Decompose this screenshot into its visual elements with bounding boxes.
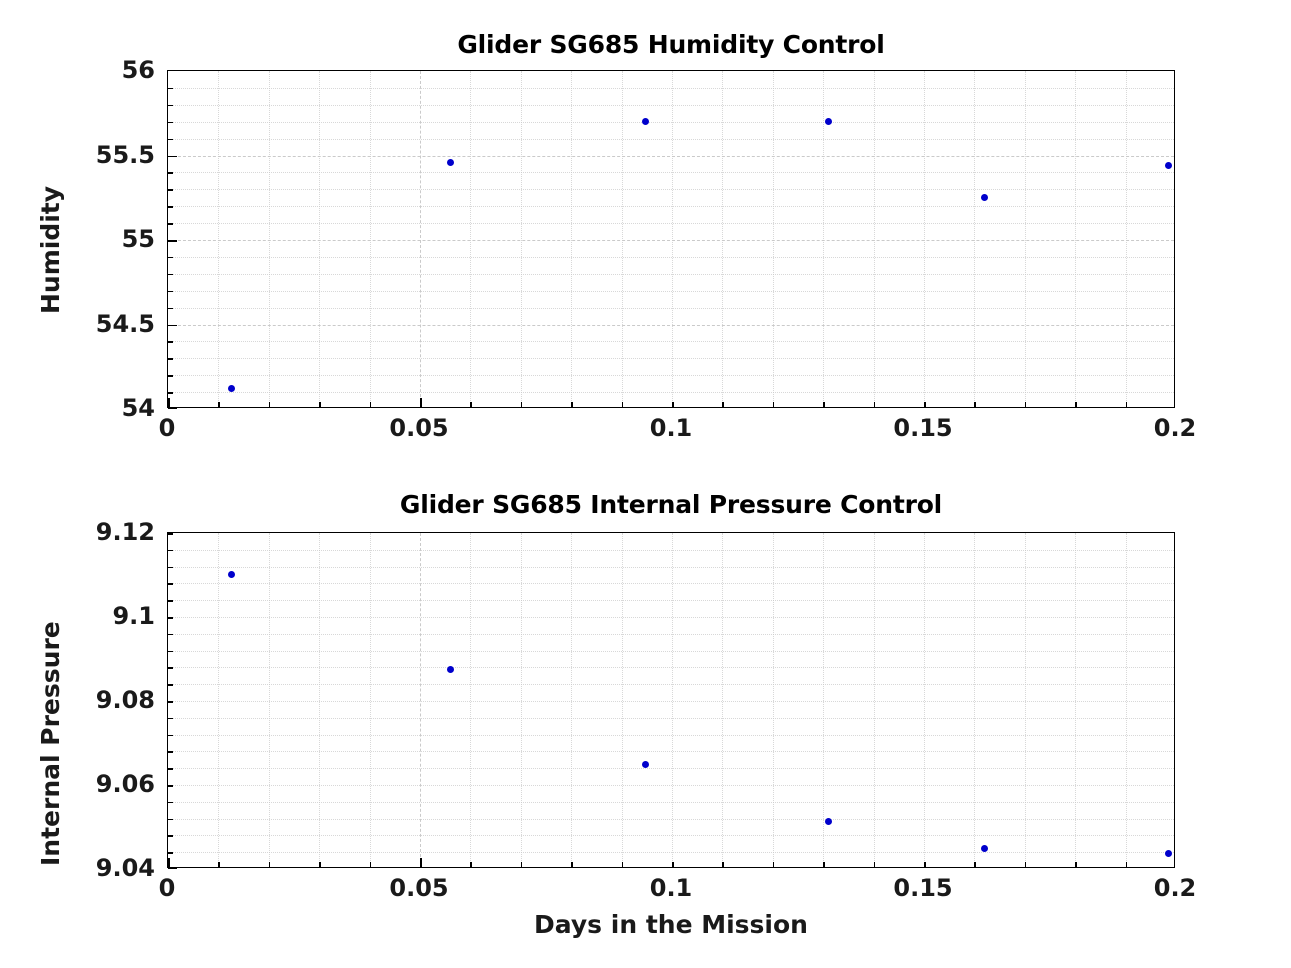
x-tick-label: 0.05 — [389, 874, 448, 902]
data-point — [447, 666, 454, 673]
tick-mark — [168, 274, 173, 276]
tick-mark — [168, 105, 173, 107]
pressure-y-axis-label: Internal Pressure — [36, 621, 65, 866]
x-tick-label: 0.1 — [650, 414, 693, 442]
data-point — [228, 385, 235, 392]
tick-mark — [571, 862, 573, 867]
tick-mark — [168, 768, 173, 770]
tick-mark — [874, 402, 876, 407]
tick-mark — [672, 402, 674, 407]
tick-mark — [168, 375, 173, 377]
y-tick-label: 55 — [122, 225, 155, 253]
tick-mark — [168, 341, 173, 343]
tick-mark — [168, 735, 173, 737]
tick-mark — [470, 862, 472, 867]
tick-mark — [168, 600, 173, 602]
tick-mark — [218, 862, 220, 867]
data-point — [825, 818, 832, 825]
tick-mark — [319, 402, 321, 407]
tick-mark — [168, 684, 173, 686]
tick-mark — [168, 172, 173, 174]
tick-mark — [168, 88, 173, 90]
pressure-data-points — [168, 533, 1174, 867]
y-tick-label: 9.08 — [96, 686, 155, 714]
pressure-gridlines — [168, 533, 1174, 867]
tick-mark — [773, 402, 775, 407]
tick-mark — [168, 139, 173, 141]
tick-mark — [420, 398, 422, 407]
data-point — [642, 118, 649, 125]
x-axis-label: Days in the Mission — [167, 910, 1175, 939]
tick-mark — [1025, 862, 1027, 867]
tick-mark — [168, 189, 173, 191]
tick-mark — [168, 407, 177, 409]
y-tick-label: 55.5 — [96, 141, 155, 169]
tick-mark — [168, 550, 173, 552]
tick-mark — [168, 819, 173, 821]
y-tick-label: 9.1 — [112, 602, 155, 630]
tick-mark — [521, 862, 523, 867]
tick-mark — [773, 862, 775, 867]
humidity-y-tick-labels: 5454.55555.556 — [0, 70, 155, 408]
x-tick-label: 0.15 — [893, 874, 952, 902]
tick-mark — [218, 402, 220, 407]
tick-mark — [1075, 402, 1077, 407]
tick-mark — [370, 402, 372, 407]
tick-mark — [924, 402, 926, 407]
data-point — [981, 194, 988, 201]
tick-mark — [168, 358, 173, 360]
tick-mark — [168, 223, 173, 225]
data-point — [447, 159, 454, 166]
tick-mark — [974, 862, 976, 867]
tick-mark — [168, 392, 173, 394]
tick-mark — [168, 852, 173, 854]
tick-mark — [168, 257, 173, 259]
data-point — [981, 845, 988, 852]
tick-mark — [370, 862, 372, 867]
tick-mark — [168, 156, 177, 158]
data-point — [825, 118, 832, 125]
x-tick-label: 0.1 — [650, 874, 693, 902]
tick-mark — [1126, 402, 1128, 407]
tick-mark — [168, 785, 173, 787]
tick-mark — [420, 858, 422, 867]
pressure-plot-title: Glider SG685 Internal Pressure Control — [167, 490, 1175, 519]
tick-mark — [168, 583, 173, 585]
tick-mark — [672, 862, 674, 867]
humidity-x-tick-labels: 00.050.10.150.2 — [167, 414, 1175, 446]
humidity-panel: Glider SG685 Humidity Control 5454.55555… — [0, 0, 1291, 470]
tick-mark — [168, 291, 173, 293]
x-tick-label: 0.2 — [1154, 874, 1197, 902]
figure-canvas: Glider SG685 Humidity Control 5454.55555… — [0, 0, 1291, 968]
tick-mark — [269, 862, 271, 867]
y-tick-label: 54 — [122, 394, 155, 422]
y-tick-label: 56 — [122, 56, 155, 84]
y-tick-label: 9.06 — [96, 770, 155, 798]
tick-mark — [168, 867, 177, 869]
tick-mark — [168, 240, 177, 242]
tick-mark — [1075, 862, 1077, 867]
pressure-y-tick-labels: 9.049.069.089.19.12 — [0, 532, 155, 868]
x-tick-label: 0 — [159, 874, 176, 902]
tick-mark — [319, 862, 321, 867]
x-tick-label: 0.15 — [893, 414, 952, 442]
tick-mark — [722, 862, 724, 867]
tick-mark — [168, 802, 173, 804]
tick-mark — [168, 835, 173, 837]
tick-mark — [168, 617, 173, 619]
data-point — [642, 761, 649, 768]
tick-mark — [168, 533, 173, 535]
tick-mark — [1025, 402, 1027, 407]
tick-mark — [722, 402, 724, 407]
y-tick-label: 54.5 — [96, 310, 155, 338]
tick-mark — [622, 402, 624, 407]
tick-mark — [168, 751, 173, 753]
humidity-data-points — [168, 71, 1174, 407]
tick-mark — [571, 402, 573, 407]
tick-mark — [622, 862, 624, 867]
tick-mark — [974, 402, 976, 407]
humidity-gridlines — [168, 71, 1174, 407]
tick-mark — [168, 858, 170, 867]
tick-mark — [1126, 862, 1128, 867]
y-tick-label: 9.04 — [96, 854, 155, 882]
tick-mark — [823, 862, 825, 867]
tick-mark — [168, 308, 173, 310]
tick-mark — [168, 398, 170, 407]
x-tick-label: 0.2 — [1154, 414, 1197, 442]
pressure-panel: Glider SG685 Internal Pressure Control 9… — [0, 460, 1291, 968]
tick-mark — [521, 402, 523, 407]
pressure-axes — [167, 532, 1175, 868]
tick-mark — [269, 402, 271, 407]
tick-mark — [168, 206, 173, 208]
data-point — [228, 571, 235, 578]
y-tick-label: 9.12 — [96, 518, 155, 546]
tick-mark — [168, 122, 173, 124]
humidity-plot-title: Glider SG685 Humidity Control — [167, 30, 1175, 59]
tick-mark — [168, 325, 177, 327]
tick-mark — [470, 402, 472, 407]
tick-mark — [168, 567, 173, 569]
x-tick-label: 0.05 — [389, 414, 448, 442]
x-tick-label: 0 — [159, 414, 176, 442]
humidity-axes — [167, 70, 1175, 408]
tick-mark — [168, 667, 173, 669]
data-point — [1165, 162, 1172, 169]
tick-mark — [823, 402, 825, 407]
tick-mark — [168, 718, 173, 720]
tick-mark — [168, 651, 173, 653]
tick-mark — [874, 862, 876, 867]
humidity-y-axis-label: Humidity — [36, 186, 65, 314]
tick-mark — [168, 634, 173, 636]
data-point — [1165, 850, 1172, 857]
tick-mark — [168, 701, 173, 703]
tick-mark — [924, 862, 926, 867]
pressure-x-tick-labels: 00.050.10.150.2 — [167, 874, 1175, 906]
